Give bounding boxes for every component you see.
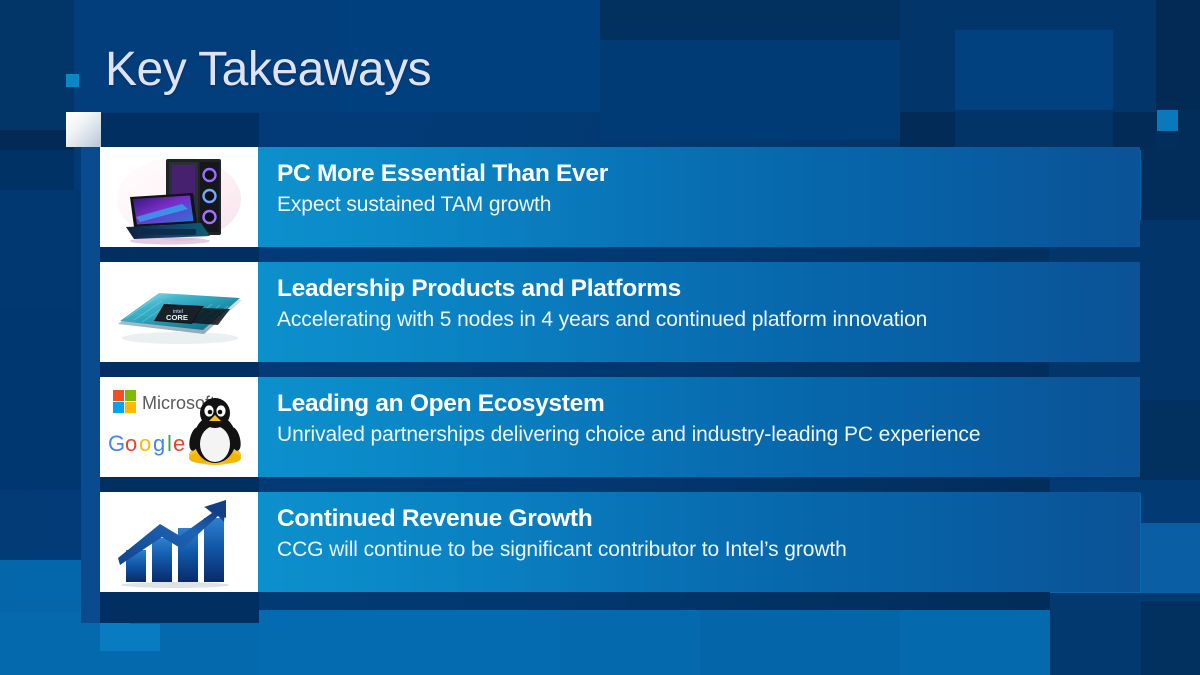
bg-block bbox=[0, 0, 74, 130]
takeaway-title: PC More Essential Than Ever bbox=[277, 159, 1126, 189]
bg-block bbox=[955, 30, 1113, 110]
takeaway-bar: Leading an Open Ecosystem Unrivaled part… bbox=[258, 377, 1140, 477]
bg-block bbox=[1140, 400, 1200, 480]
svg-text:e: e bbox=[173, 431, 185, 456]
intel-core-processor-die-photo: intel CORE bbox=[100, 262, 258, 362]
svg-text:o: o bbox=[125, 431, 137, 456]
takeaway-title: Leadership Products and Platforms bbox=[277, 274, 1126, 304]
takeaway-bar: Leadership Products and Platforms Accele… bbox=[258, 262, 1140, 362]
bg-block bbox=[1141, 523, 1200, 601]
takeaway-image-tile bbox=[100, 492, 258, 592]
bg-block bbox=[0, 600, 82, 612]
bg-block bbox=[1141, 601, 1200, 675]
takeaway-title: Continued Revenue Growth bbox=[277, 504, 1126, 534]
glossy-accent-square bbox=[66, 112, 101, 147]
svg-text:G: G bbox=[108, 431, 125, 456]
google-logo-icon: G o o g l e bbox=[108, 431, 185, 456]
takeaway-bar: PC More Essential Than Ever Expect susta… bbox=[258, 147, 1140, 247]
bg-block bbox=[100, 623, 160, 651]
bg-block bbox=[700, 610, 900, 675]
takeaway-title: Leading an Open Ecosystem bbox=[277, 389, 1126, 419]
partner-logos-microsoft-google-linux: Microsoft G o o g l e bbox=[100, 377, 258, 477]
takeaway-image-tile: Microsoft G o o g l e bbox=[100, 377, 258, 477]
growth-bar-chart-with-up-arrow-icon bbox=[100, 492, 258, 592]
bg-block bbox=[600, 40, 900, 140]
bg-block bbox=[600, 0, 900, 40]
slide-canvas: Key Takeaways bbox=[0, 0, 1200, 675]
takeaway-subtitle: Accelerating with 5 nodes in 4 years and… bbox=[277, 306, 1126, 333]
svg-text:g: g bbox=[153, 431, 165, 456]
bg-block bbox=[1141, 480, 1200, 523]
takeaway-image-tile: intel CORE bbox=[100, 262, 258, 362]
left-accent-panel-edge bbox=[81, 113, 100, 623]
bg-accent-square bbox=[1157, 110, 1178, 131]
page-title: Key Takeaways bbox=[105, 46, 431, 94]
cyan-accent-square bbox=[66, 74, 79, 87]
bg-block bbox=[1156, 0, 1200, 110]
takeaway-bar: Continued Revenue Growth CCG will contin… bbox=[258, 492, 1140, 592]
takeaway-subtitle: CCG will continue to be significant cont… bbox=[277, 536, 1126, 563]
bg-block bbox=[1141, 150, 1200, 220]
desktop-pc-and-gaming-laptop-photo bbox=[100, 147, 258, 247]
svg-text:CORE: CORE bbox=[166, 313, 188, 322]
svg-text:l: l bbox=[167, 431, 172, 456]
bg-block bbox=[955, 112, 1113, 150]
bg-block bbox=[259, 610, 559, 675]
microsoft-logo-icon: Microsoft bbox=[113, 390, 215, 413]
bg-block bbox=[0, 150, 76, 310]
takeaway-subtitle: Expect sustained TAM growth bbox=[277, 191, 1126, 218]
svg-text:o: o bbox=[139, 431, 151, 456]
takeaway-image-tile bbox=[100, 147, 258, 247]
takeaway-subtitle: Unrivaled partnerships delivering choice… bbox=[277, 421, 1126, 448]
